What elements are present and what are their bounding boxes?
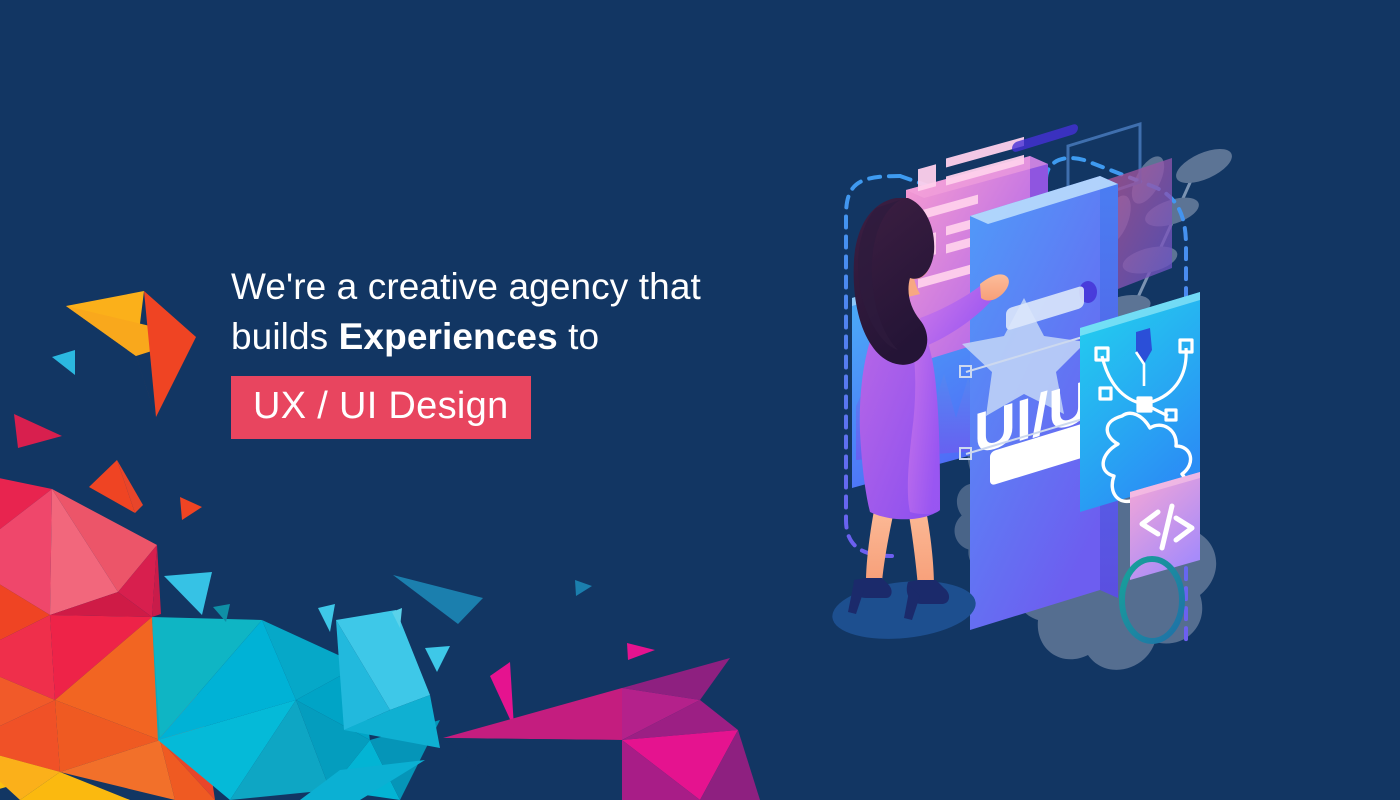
triangle-amber (66, 291, 144, 356)
poly-orange-2 (0, 660, 55, 745)
poly-magenta-7 (700, 730, 760, 800)
poly-rose-2 (0, 489, 52, 615)
poly-cyan-band-3 (344, 695, 440, 748)
poly-cyan-band-2 (336, 620, 390, 730)
poly-teal-1 (152, 617, 262, 740)
poly-red-3 (0, 615, 55, 700)
poly-magenta-4 (622, 700, 738, 740)
poly-red-5 (152, 617, 200, 740)
poly-cyan-7 (330, 740, 400, 800)
poly-navy-wedge (360, 665, 440, 740)
triangle-red-mid (89, 460, 135, 513)
triangle-cyan-tiny-2 (318, 604, 335, 632)
isometric-illustration: 0 3 (800, 120, 1400, 680)
poly-red-6 (160, 700, 215, 800)
triangle-cyan-small (52, 350, 75, 375)
poly-red-1 (50, 592, 152, 617)
hero-copy: We're a creative agency that builds Expe… (231, 262, 851, 439)
triangle-magenta-tiny (627, 643, 655, 660)
poly-orange-5 (60, 740, 175, 800)
poly-magenta-6 (622, 740, 700, 800)
poly-rose-3 (50, 489, 118, 615)
ux-ui-design-badge[interactable]: UX / UI Design (231, 376, 531, 439)
poly-cyan-1 (158, 620, 296, 740)
headline-prefix: builds (231, 316, 339, 357)
poly-orange-4 (55, 700, 160, 772)
headline-line-1: We're a creative agency that (231, 262, 851, 312)
poly-magenta-3 (622, 688, 700, 740)
poly-red-2 (0, 560, 50, 660)
poly-yellow-1 (0, 745, 60, 800)
headline-suffix: to (558, 316, 599, 357)
triangle-blue-tiny (575, 580, 592, 596)
poly-rose-1 (0, 470, 52, 560)
headline-emphasis: Experiences (339, 316, 558, 357)
poly-cyan-6 (296, 700, 370, 790)
poly-cyan-4 (158, 700, 296, 800)
poly-cyan-lower (300, 760, 425, 800)
triangle-red (144, 291, 196, 417)
poly-rose-4 (52, 489, 157, 592)
triangle-blue-large (393, 575, 483, 624)
poly-cyan-band-1 (336, 610, 430, 710)
poly-crimson-2 (152, 545, 161, 617)
triangle-cyan-tiny-3 (392, 608, 402, 628)
headline-line-2: builds Experiences to (231, 312, 851, 362)
poly-orange-6 (160, 740, 215, 800)
triangle-cyan-mid (164, 572, 212, 615)
triangle-crimson-thin (14, 414, 62, 448)
poly-magenta-8 (443, 738, 622, 800)
triangle-red-mid-2 (117, 460, 143, 513)
poly-magenta-1 (443, 688, 622, 740)
poly-yellow-2 (0, 745, 60, 800)
triangle-magenta-mid (490, 662, 514, 728)
poly-cyan-2 (262, 620, 360, 700)
poly-yellow-3 (20, 772, 130, 800)
poly-orange-1 (55, 617, 160, 740)
triangle-teal-tiny (213, 604, 230, 622)
triangle-amber-2 (66, 306, 196, 356)
poly-magenta-5 (622, 730, 738, 800)
poly-crimson-1 (118, 545, 157, 617)
poly-cyan-5 (230, 700, 330, 800)
triangle-red-2 (136, 356, 157, 420)
poly-cyan-3 (296, 665, 370, 740)
poly-orange-3 (0, 700, 60, 772)
hero-banner: We're a creative agency that builds Expe… (0, 0, 1400, 800)
poly-magenta-2 (622, 658, 730, 700)
poly-cyan-8 (370, 720, 440, 800)
triangle-red-tiny (180, 497, 202, 520)
triangle-cyan-tiny-4 (425, 646, 450, 672)
poly-red-4 (50, 615, 152, 700)
poly-teal-2 (152, 617, 160, 740)
